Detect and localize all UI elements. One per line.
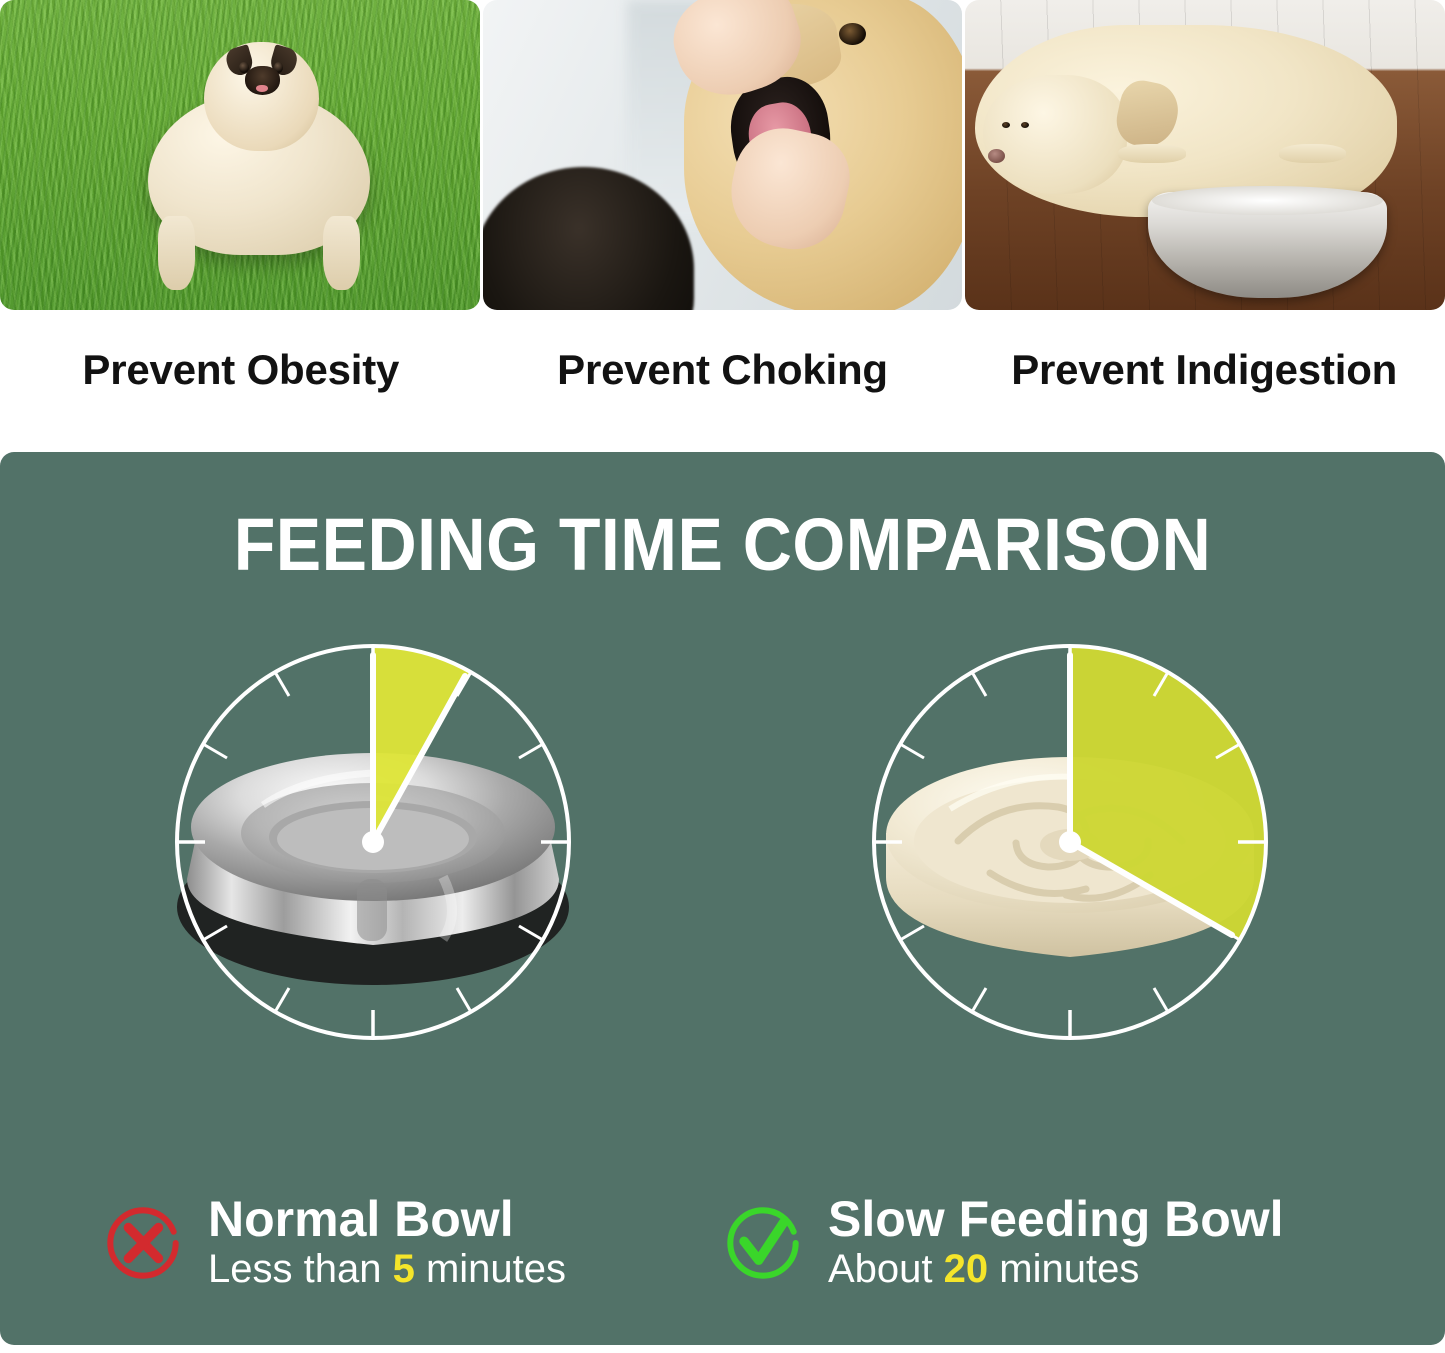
benefit-caption-indigestion: Prevent Indigestion: [963, 310, 1445, 430]
normal-time-prefix: Less than: [208, 1247, 381, 1291]
labrador-nose: [988, 149, 1005, 163]
clock-slow-feeding-bowl: [840, 627, 1300, 1077]
pug-head: [204, 42, 319, 151]
labrador-paw-front: [1118, 144, 1186, 163]
benefit-caption-obesity: Prevent Obesity: [0, 310, 482, 430]
clock-comparison-row: [0, 627, 1445, 1077]
benefit-photo-indigestion: [965, 0, 1445, 310]
slow-time-unit: minutes: [999, 1247, 1139, 1291]
labrador-head: [983, 75, 1127, 194]
normal-time-value: 5: [393, 1247, 415, 1291]
normal-bowl-time: Less than 5 minutes: [208, 1246, 566, 1293]
pug-leg-left: [158, 216, 195, 290]
benefit-photo-obesity: [0, 0, 480, 310]
normal-bowl-title: Normal Bowl: [208, 1193, 566, 1246]
labrador-eye-right: [1021, 122, 1029, 128]
feeding-time-comparison-panel: FEEDING TIME COMPARISON: [0, 452, 1445, 1345]
labrador-paw-rear: [1279, 144, 1347, 163]
slow-bowl-time: About 20 minutes: [828, 1246, 1284, 1293]
benefit-caption-choking: Prevent Choking: [482, 310, 964, 430]
slow-bowl-title: Slow Feeding Bowl: [828, 1193, 1284, 1246]
slow-bowl-label-block: Slow Feeding Bowl About 20 minutes: [720, 1193, 1284, 1293]
clock-normal-bowl: [143, 627, 603, 1077]
benefit-caption-row: Prevent Obesity Prevent Choking Prevent …: [0, 310, 1445, 430]
normal-bowl-text: Normal Bowl Less than 5 minutes: [208, 1193, 566, 1293]
normal-bowl-label-block: Normal Bowl Less than 5 minutes: [100, 1193, 720, 1293]
circle-x-icon: [100, 1200, 186, 1286]
pug-leg-right: [323, 216, 360, 290]
benefit-photo-choking: [483, 0, 963, 310]
slow-time-prefix: About: [828, 1247, 933, 1291]
labrador-eye-left: [1002, 122, 1010, 128]
slow-time-value: 20: [944, 1247, 989, 1291]
slow-bowl-text: Slow Feeding Bowl About 20 minutes: [828, 1193, 1284, 1293]
page-title: FEEDING TIME COMPARISON: [58, 502, 1387, 587]
overweight-pug-illustration: [144, 37, 374, 285]
normal-time-unit: minutes: [426, 1247, 566, 1291]
comparison-label-row: Normal Bowl Less than 5 minutes Slow Fee…: [0, 1193, 1445, 1293]
retriever-eye: [839, 23, 866, 46]
benefit-photo-strip: [0, 0, 1445, 310]
circle-check-icon: [720, 1200, 806, 1286]
